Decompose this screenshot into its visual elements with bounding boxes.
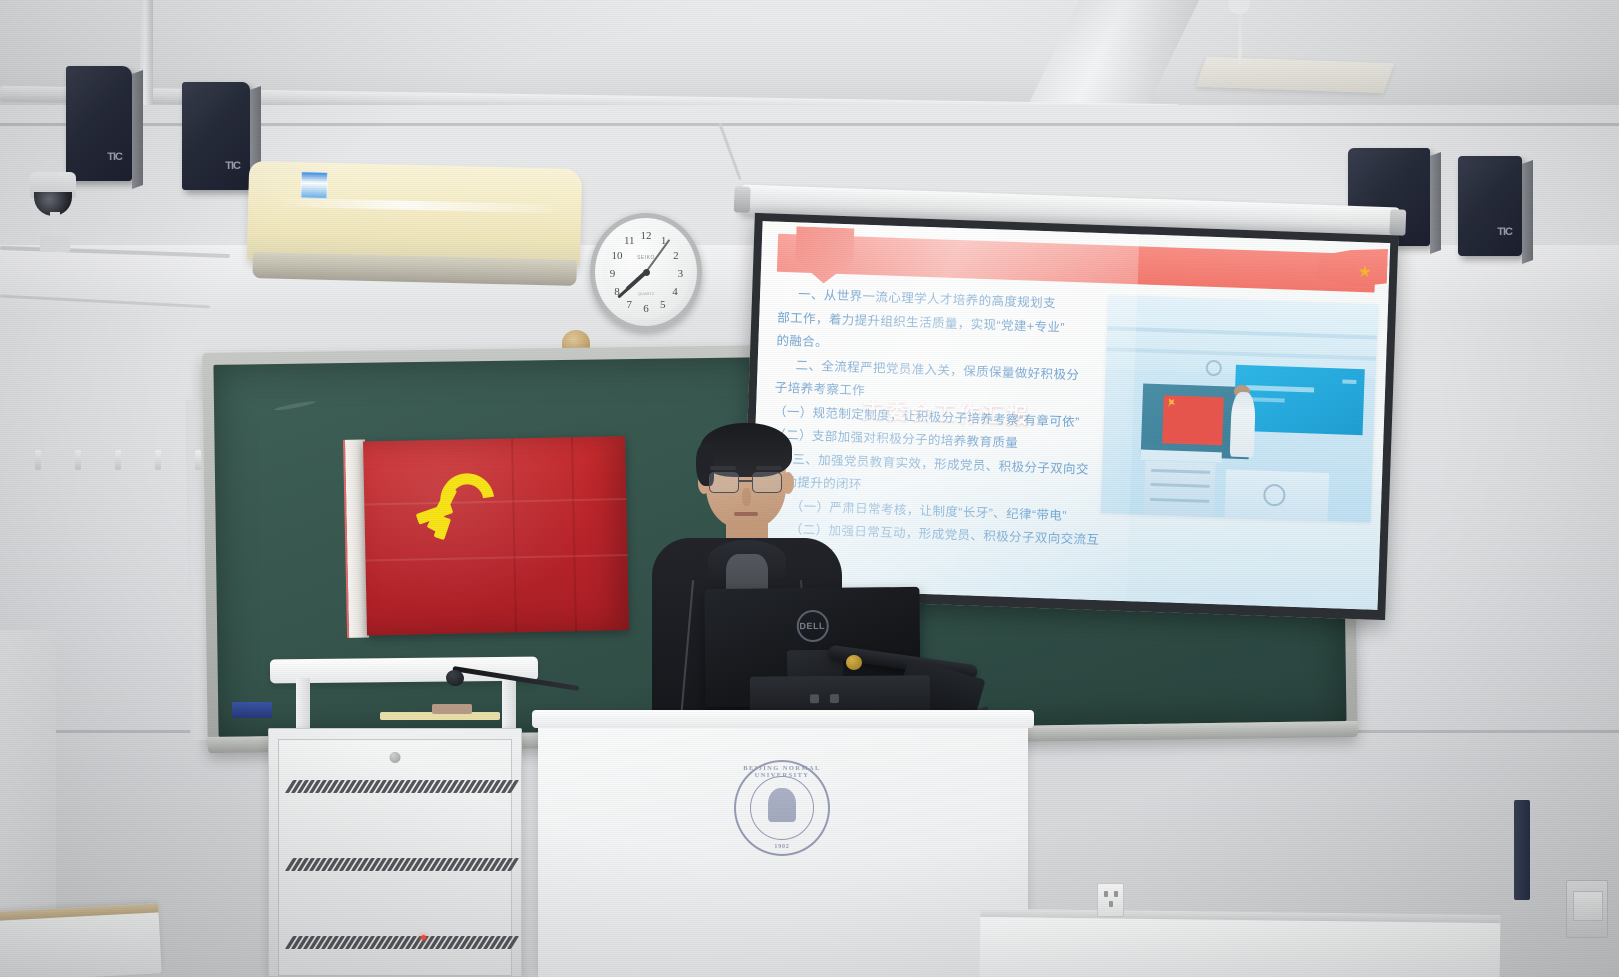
- power-outlet[interactable]: [1097, 883, 1124, 917]
- power-led-indicator: [421, 935, 426, 940]
- speaker-brand-label: TIC: [1497, 226, 1512, 238]
- flag-star-icon: [1358, 265, 1371, 278]
- cabinet-vent-row: [289, 780, 502, 792]
- university-seal: BEIJING NORMAL UNIVERSITY 1902: [734, 760, 830, 856]
- clock-center-cap: [643, 269, 650, 276]
- clock-numeral: 12: [641, 230, 652, 242]
- monitor-arm-knob[interactable]: [846, 655, 862, 670]
- light-switch-panel[interactable]: [1566, 880, 1608, 938]
- presenter-nose: [742, 488, 751, 506]
- inset-vent: [1150, 483, 1209, 488]
- inset-presenter: [1230, 391, 1257, 457]
- chalk-smudge: [274, 400, 316, 412]
- inset-screen-mark: [1343, 379, 1357, 383]
- desk-leg: [296, 678, 310, 734]
- inset-flag-emblem-icon: [1167, 398, 1176, 407]
- clock-numeral: 2: [673, 250, 679, 262]
- clock-numeral: 9: [610, 268, 616, 280]
- party-flag: [343, 434, 629, 638]
- light-switch-button[interactable]: [1573, 891, 1603, 921]
- outlet-slot: [1109, 901, 1113, 907]
- equipment-cabinet: [268, 728, 522, 977]
- wall-speaker: TIC: [182, 82, 250, 190]
- clock-numeral: 6: [643, 303, 649, 315]
- inset-party-flag: [1163, 395, 1224, 445]
- hook-rail: [35, 450, 205, 472]
- clock-numeral: 3: [678, 268, 684, 280]
- wall-speaker: TIC: [66, 66, 132, 181]
- inset-cabinet: [1144, 460, 1216, 517]
- speaker-brand-label: TIC: [225, 160, 240, 172]
- tray-button[interactable]: [810, 694, 819, 703]
- flag-fold: [571, 437, 577, 631]
- hammer-and-sickle-icon: [410, 469, 504, 549]
- seal-bell-icon: [768, 788, 796, 822]
- eraser: [432, 704, 472, 714]
- desk-leg: [502, 678, 516, 734]
- student-desk-left: [0, 903, 162, 977]
- hook: [75, 450, 81, 470]
- outlet-slot: [1114, 891, 1118, 897]
- wall-speaker: TIC: [1458, 156, 1522, 256]
- clock-numeral: 11: [624, 235, 635, 247]
- classroom-scene: TIC TIC TIC 12 1 2 3 4 5 6 7 8 9 10 11: [0, 0, 1619, 977]
- clock-numeral: 7: [627, 299, 633, 311]
- roller-cap: [1389, 209, 1406, 236]
- hook: [155, 450, 161, 470]
- slide-title-marker-icon: [795, 226, 855, 284]
- dell-logo-icon: DELL: [796, 610, 828, 642]
- wall-clock: 12 1 2 3 4 5 6 7 8 9 10 11 SEIKO QUARTZ: [590, 213, 702, 331]
- cabinet-lock-icon[interactable]: [390, 752, 401, 763]
- hook: [195, 450, 201, 470]
- clock-numeral: 5: [660, 299, 666, 311]
- eyeglasses-bridge: [739, 480, 752, 482]
- camera-plate: [40, 236, 70, 252]
- teacher-desk: [270, 657, 538, 684]
- speaker-brand-label: TIC: [107, 151, 122, 163]
- clock-numeral: 10: [611, 250, 622, 262]
- energy-label: [300, 171, 328, 199]
- slide-inset-photo: [1101, 295, 1378, 522]
- lectern: BEIJING NORMAL UNIVERSITY 1902: [538, 718, 1028, 977]
- inset-clock: [1205, 360, 1222, 377]
- flag-fold: [511, 438, 517, 632]
- cabinet-vent-row: [289, 936, 502, 948]
- chalk-box: [232, 702, 272, 718]
- tray-button[interactable]: [830, 694, 839, 703]
- outlet-slot: [1104, 891, 1108, 897]
- cabinet-vent-row: [289, 858, 502, 870]
- eyeglasses-icon: [752, 472, 782, 493]
- inset-vent: [1151, 469, 1210, 474]
- door-frame: [1514, 800, 1530, 900]
- hook: [35, 450, 41, 470]
- clock-subtext: QUARTZ: [638, 291, 654, 296]
- cabinet-door[interactable]: [278, 739, 512, 976]
- presenter-ear: [782, 472, 794, 494]
- student-desk-right: [980, 909, 1501, 977]
- flag-fold: [365, 554, 627, 561]
- hook: [115, 450, 121, 470]
- roller-cap: [734, 186, 751, 213]
- ac-highlight: [275, 198, 555, 214]
- slide-title-bar: [777, 234, 1376, 293]
- clock-face: 12 1 2 3 4 5 6 7 8 9 10 11 SEIKO QUARTZ: [602, 225, 690, 319]
- seal-top-text: BEIJING NORMAL UNIVERSITY: [736, 765, 828, 779]
- flag-body: [363, 436, 629, 635]
- seal-year-text: 1902: [736, 844, 828, 850]
- inset-screen-text: [1246, 385, 1314, 392]
- presenter-mouth: [734, 512, 758, 516]
- presenter-eyebrow: [756, 466, 782, 470]
- inset-vent: [1150, 497, 1209, 502]
- clock-numeral: 4: [672, 286, 678, 298]
- lectern-top: [532, 710, 1034, 728]
- air-conditioner: [247, 161, 582, 269]
- eyeglasses-icon: [709, 472, 739, 493]
- presenter-eyebrow: [710, 466, 736, 470]
